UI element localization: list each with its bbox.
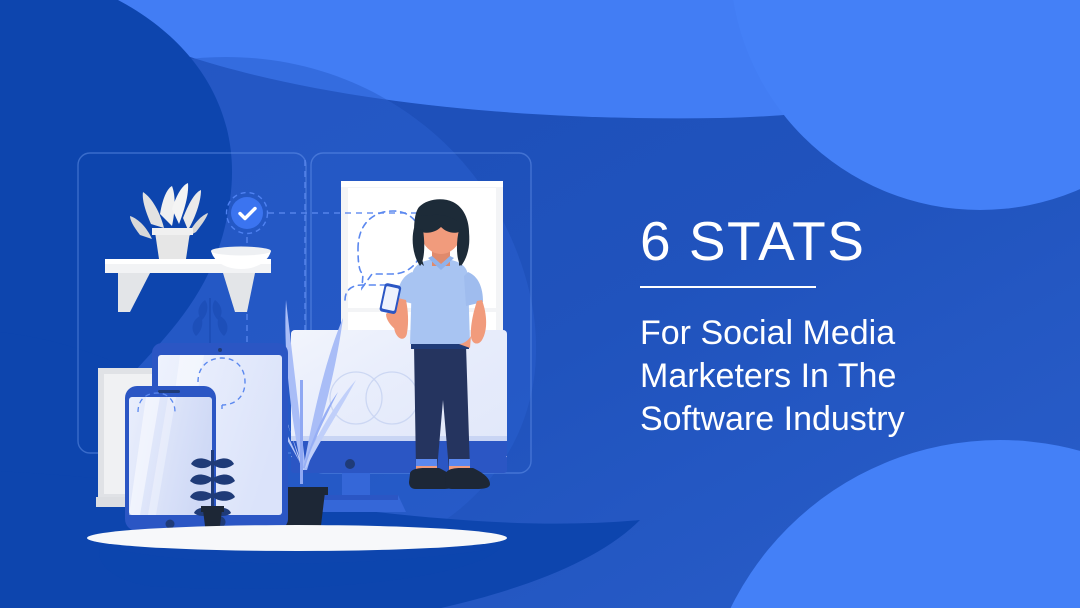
wall-leaf-silhouette (193, 298, 228, 344)
page-title: 6 STATS (640, 210, 1040, 272)
title-divider (640, 286, 816, 288)
desk-band (291, 436, 507, 456)
page-subtitle: For Social Media Marketers In The Softwa… (640, 312, 1040, 441)
poster-canvas: 6 STATS For Social Media Marketers In Th… (0, 0, 1080, 608)
ground-shadow-wave (99, 546, 500, 589)
shelf-plant (130, 183, 208, 259)
woman-shirt (410, 259, 470, 344)
verified-check-badge (227, 193, 268, 234)
ground-ellipse (87, 525, 507, 551)
text-panel: 6 STATS For Social Media Marketers In Th… (640, 210, 1040, 441)
